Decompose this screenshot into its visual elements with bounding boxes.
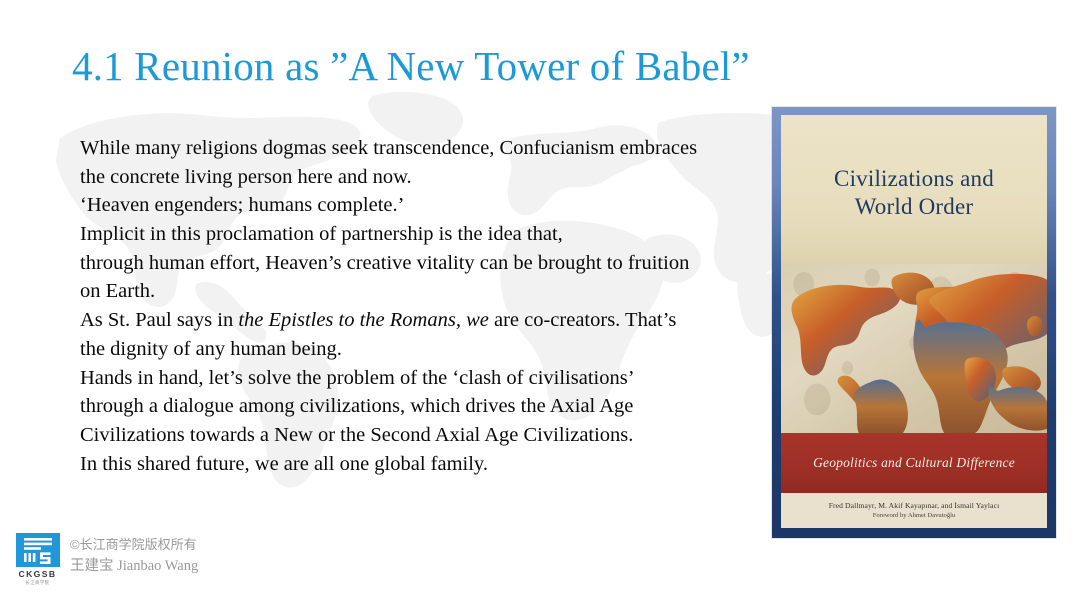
body-line-text: the dignity of any human being. <box>80 338 342 360</box>
body-line-text: As St. Paul says in <box>80 309 238 331</box>
book-title-line1: Civilizations and <box>834 165 994 193</box>
body-line: through a dialogue among civilizations, … <box>80 392 780 421</box>
book-cover-map-art <box>781 264 1047 433</box>
footer-copyright: ©长江商学院版权所有 <box>70 534 198 555</box>
slide-footer: CKGSB 长江商学院 ©长江商学院版权所有 王建宝 Jianbao Wang <box>14 533 198 586</box>
body-line: Hands in hand, let’s solve the problem o… <box>80 364 780 393</box>
body-line: on Earth. <box>80 277 780 306</box>
ckgsb-logo-mark-icon <box>16 533 60 567</box>
body-line-text: ‘Heaven engenders; humans complete.’ <box>80 194 404 216</box>
body-line: While many religions dogmas seek transce… <box>80 134 780 163</box>
body-line-text: on Earth. <box>80 280 155 302</box>
body-line: As St. Paul says in the Epistles to the … <box>80 306 780 335</box>
body-line: In this shared future, we are all one gl… <box>80 450 780 479</box>
book-foreword: Foreword by Ahmet Davutoğlu <box>873 512 956 520</box>
book-authors: Fred Dallmayr, M. Akif Kayapınar, and İs… <box>829 501 1000 510</box>
body-line-text-tail: are co-creators. That’s <box>489 309 676 331</box>
body-line: Implicit in this proclamation of partner… <box>80 220 780 249</box>
book-authors-band: Fred Dallmayr, M. Akif Kayapınar, and İs… <box>781 493 1047 528</box>
footer-text-block: ©长江商学院版权所有 王建宝 Jianbao Wang <box>70 533 198 578</box>
ckgsb-logo: CKGSB 长江商学院 <box>14 533 61 586</box>
footer-author: 王建宝 Jianbao Wang <box>70 555 198 578</box>
body-line-text: Civilizations towards a New or the Secon… <box>80 424 633 446</box>
body-line-text: Hands in hand, let’s solve the problem o… <box>80 367 635 389</box>
book-subtitle: Geopolitics and Cultural Difference <box>813 455 1015 471</box>
body-line-text: through a dialogue among civilizations, … <box>80 395 633 417</box>
ckgsb-logo-subtext: 长江商学院 <box>26 580 50 586</box>
book-title-line2: World Order <box>855 193 974 221</box>
book-cover-image: Civilizations and World Order <box>772 107 1056 538</box>
body-line-text: the concrete living person here and now. <box>80 166 412 188</box>
body-line-text: In this shared future, we are all one gl… <box>80 453 488 475</box>
book-subtitle-band: Geopolitics and Cultural Difference <box>781 433 1047 493</box>
book-cover-title-panel: Civilizations and World Order <box>781 115 1047 264</box>
body-line: the concrete living person here and now. <box>80 163 780 192</box>
body-line: the dignity of any human being. <box>80 335 780 364</box>
ckgsb-logo-wordmark: CKGSB <box>18 569 56 579</box>
body-line-text: While many religions dogmas seek transce… <box>80 137 697 159</box>
body-line: ‘Heaven engenders; humans complete.’ <box>80 191 780 220</box>
body-line-text: through human effort, Heaven’s creative … <box>80 252 689 274</box>
slide-body-text: While many religions dogmas seek transce… <box>80 134 780 478</box>
body-line: through human effort, Heaven’s creative … <box>80 249 780 278</box>
body-line: Civilizations towards a New or the Secon… <box>80 421 780 450</box>
body-line-text: Implicit in this proclamation of partner… <box>80 223 563 245</box>
body-line-emphasis: the Epistles to the Romans, we <box>238 309 489 331</box>
slide-canvas: 4.1 Reunion as ”A New Tower of Babel” Wh… <box>0 0 1080 600</box>
slide-title: 4.1 Reunion as ”A New Tower of Babel” <box>72 44 750 89</box>
book-cover-inner: Civilizations and World Order <box>781 115 1047 528</box>
